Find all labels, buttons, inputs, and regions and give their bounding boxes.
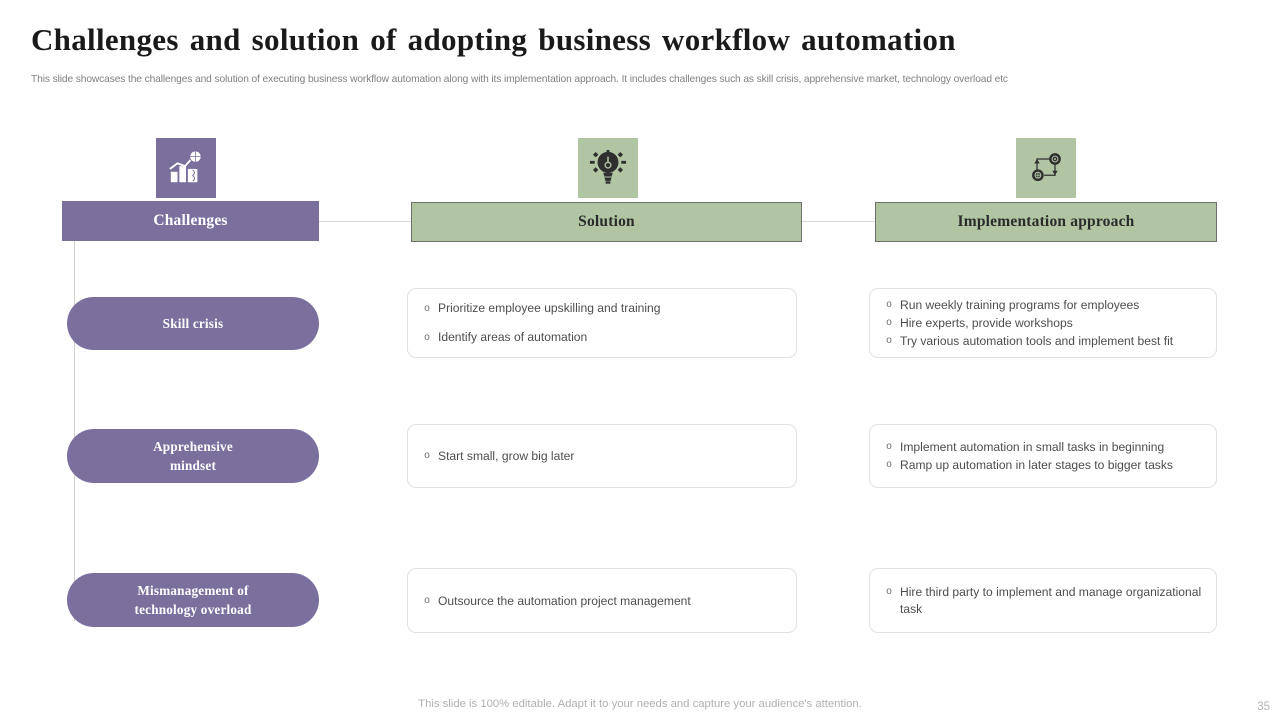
bullet-label: Try various automation tools and impleme… [900, 332, 1208, 350]
connector-challenges-to-solution [319, 221, 412, 222]
challenge-pill-label: Mismanagement of technology overload [135, 581, 252, 619]
bullet-item: o Identify areas of automation [416, 328, 788, 347]
footer-note: This slide is 100% editable. Adapt it to… [0, 698, 1280, 710]
challenge-pill-technology-overload[interactable]: Mismanagement of technology overload [67, 573, 319, 627]
bullet-item: o Hire experts, provide workshops [878, 314, 1208, 332]
solution-card-row-1[interactable]: o Prioritize employee upskilling and tra… [407, 288, 797, 358]
diagram-stage: Challenges Solution Implementation appro… [0, 0, 1280, 720]
column-header-solution-label: Solution [578, 213, 635, 231]
bullet-marker-icon: o [878, 584, 900, 601]
workflow-nodes-icon-tile [1016, 138, 1076, 198]
column-header-solution[interactable]: Solution [411, 202, 802, 242]
column-header-challenges[interactable]: Challenges [62, 201, 319, 241]
bullet-label: Identify areas of automation [438, 328, 788, 347]
challenge-pill-label-line1: Mismanagement of [137, 583, 248, 598]
bullet-label: Ramp up automation in later stages to bi… [900, 456, 1208, 474]
bullet-label: Start small, grow big later [438, 447, 788, 465]
bullet-marker-icon: o [878, 456, 900, 474]
lightbulb-gear-icon [589, 149, 627, 187]
bullet-marker-icon: o [416, 299, 438, 318]
bullet-marker-icon: o [416, 328, 438, 347]
challenge-pill-label: Apprehensive mindset [153, 437, 233, 475]
bullet-marker-icon: o [878, 438, 900, 456]
bullet-item: o Ramp up automation in later stages to … [878, 456, 1208, 474]
challenge-pill-label-line1: Apprehensive [153, 439, 233, 454]
challenge-pill-skill-crisis[interactable]: Skill crisis [67, 297, 319, 350]
growth-chart-icon-tile [156, 138, 216, 198]
bullet-item: o Try various automation tools and imple… [878, 332, 1208, 350]
connector-solution-to-implementation [802, 221, 875, 222]
column-header-implementation-label: Implementation approach [958, 213, 1135, 231]
bullet-item: o Hire third party to implement and mana… [878, 584, 1208, 617]
bullet-label: Hire experts, provide workshops [900, 314, 1208, 332]
bullet-label: Implement automation in small tasks in b… [900, 438, 1208, 456]
lightbulb-gear-icon-tile [578, 138, 638, 198]
challenge-pill-label-line2: mindset [170, 458, 216, 473]
bullet-marker-icon: o [416, 592, 438, 610]
implementation-card-row-3[interactable]: o Hire third party to implement and mana… [869, 568, 1217, 633]
bullet-item: o Prioritize employee upskilling and tra… [416, 299, 788, 318]
challenge-pill-label: Skill crisis [163, 314, 224, 333]
growth-chart-icon [167, 150, 205, 186]
bullet-item: o Outsource the automation project manag… [416, 592, 788, 610]
bullet-item: o Run weekly training programs for emplo… [878, 296, 1208, 314]
challenge-pill-apprehensive-mindset[interactable]: Apprehensive mindset [67, 429, 319, 483]
bullet-label: Hire third party to implement and manage… [900, 584, 1208, 617]
bullet-marker-icon: o [878, 314, 900, 332]
solution-card-row-2[interactable]: o Start small, grow big later [407, 424, 797, 488]
bullet-item: o Start small, grow big later [416, 447, 788, 465]
bullet-marker-icon: o [878, 332, 900, 350]
bullet-item: o Implement automation in small tasks in… [878, 438, 1208, 456]
bullet-marker-icon: o [878, 296, 900, 314]
solution-card-row-3[interactable]: o Outsource the automation project manag… [407, 568, 797, 633]
workflow-nodes-icon [1026, 150, 1066, 186]
page-number: 35 [1257, 701, 1270, 713]
column-header-implementation[interactable]: Implementation approach [875, 202, 1217, 242]
challenge-pill-label-line2: technology overload [135, 602, 252, 617]
implementation-card-row-1[interactable]: o Run weekly training programs for emplo… [869, 288, 1217, 358]
column-header-challenges-label: Challenges [153, 212, 227, 230]
bullet-label: Run weekly training programs for employe… [900, 296, 1208, 314]
implementation-card-row-2[interactable]: o Implement automation in small tasks in… [869, 424, 1217, 488]
bullet-marker-icon: o [416, 447, 438, 465]
bullet-label: Outsource the automation project managem… [438, 592, 788, 610]
connector-challenges-spine [74, 241, 75, 621]
bullet-label: Prioritize employee upskilling and train… [438, 299, 788, 318]
